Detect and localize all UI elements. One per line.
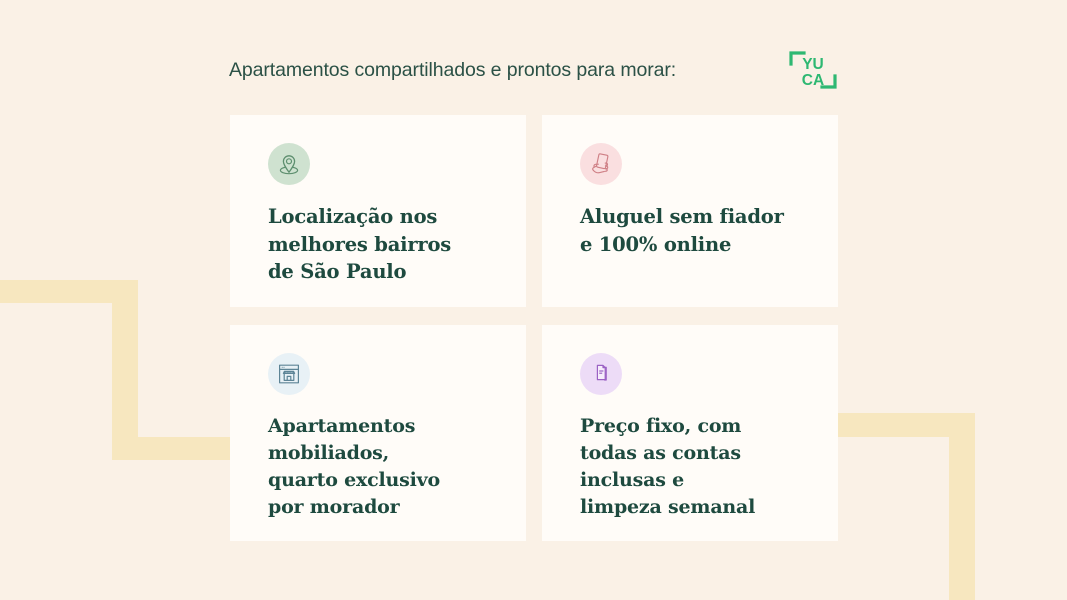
yuca-logo-line2: CA — [802, 72, 824, 89]
feature-card-title: Apartamentos mobiliados, quarto exclusiv… — [268, 413, 490, 521]
decoration-right-bracket-top — [838, 413, 975, 437]
hand-holding-phone-icon — [580, 143, 622, 185]
decoration-left-bracket-bottom — [112, 437, 232, 460]
decoration-left-bracket-top — [0, 280, 138, 303]
promo-banner: Apartamentos compartilhados e prontos pa… — [0, 0, 1067, 600]
yuca-logo-line1: YU — [802, 56, 824, 73]
storefront-browser-icon — [268, 353, 310, 395]
documents-icon — [580, 353, 622, 395]
yuca-logo: YU CA — [787, 48, 839, 92]
decoration-right-bracket-vertical — [949, 413, 975, 600]
feature-card-apartamentos-mobiliados[interactable]: Apartamentos mobiliados, quarto exclusiv… — [230, 325, 526, 541]
decoration-left-bracket-vertical — [112, 280, 138, 460]
feature-card-localizacao[interactable]: Localização nos melhores bairros de São … — [230, 115, 526, 307]
feature-card-preco-fixo[interactable]: Preço fixo, com todas as contas inclusas… — [542, 325, 838, 541]
map-pin-icon — [268, 143, 310, 185]
feature-card-grid: Localização nos melhores bairros de São … — [230, 115, 838, 541]
feature-card-title: Aluguel sem fiador e 100% online — [580, 203, 802, 258]
banner-header: Apartamentos compartilhados e prontos pa… — [229, 50, 839, 90]
page-title: Apartamentos compartilhados e prontos pa… — [229, 59, 676, 82]
feature-card-title: Localização nos melhores bairros de São … — [268, 203, 490, 286]
feature-card-title: Preço fixo, com todas as contas inclusas… — [580, 413, 802, 521]
feature-card-aluguel-sem-fiador[interactable]: Aluguel sem fiador e 100% online — [542, 115, 838, 307]
